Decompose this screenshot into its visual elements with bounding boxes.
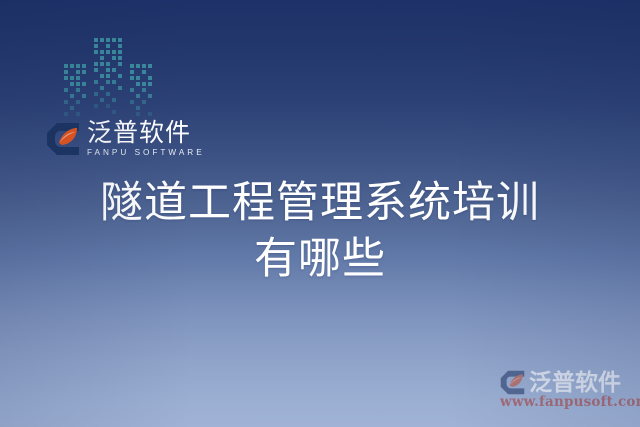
poster-canvas: 泛普软件 FANPU SOFTWARE 隧道工程管理系统培训 有哪些 泛普软件 … xyxy=(0,0,640,427)
watermark-url: www.fanpusoft.com xyxy=(500,396,632,410)
page-title: 隧道工程管理系统培训 有哪些 xyxy=(0,175,640,287)
fanpu-logo-mark-icon xyxy=(500,370,525,395)
watermark-logo-row: 泛普软件 xyxy=(500,370,632,395)
fanpu-logo-mark-icon xyxy=(46,122,80,156)
pixel-city-skyline-icon xyxy=(62,34,154,122)
brand-name-en: FANPU SOFTWARE xyxy=(87,149,205,157)
watermark-brand-name: 泛普软件 xyxy=(529,371,621,394)
watermark: 泛普软件 www.fanpusoft.com xyxy=(500,370,632,410)
page-title-line2: 有哪些 xyxy=(20,231,620,287)
brand-name-cn: 泛普软件 xyxy=(87,121,205,146)
page-title-line1: 隧道工程管理系统培训 xyxy=(20,175,620,231)
brand-logo: 泛普软件 FANPU SOFTWARE xyxy=(46,121,205,157)
